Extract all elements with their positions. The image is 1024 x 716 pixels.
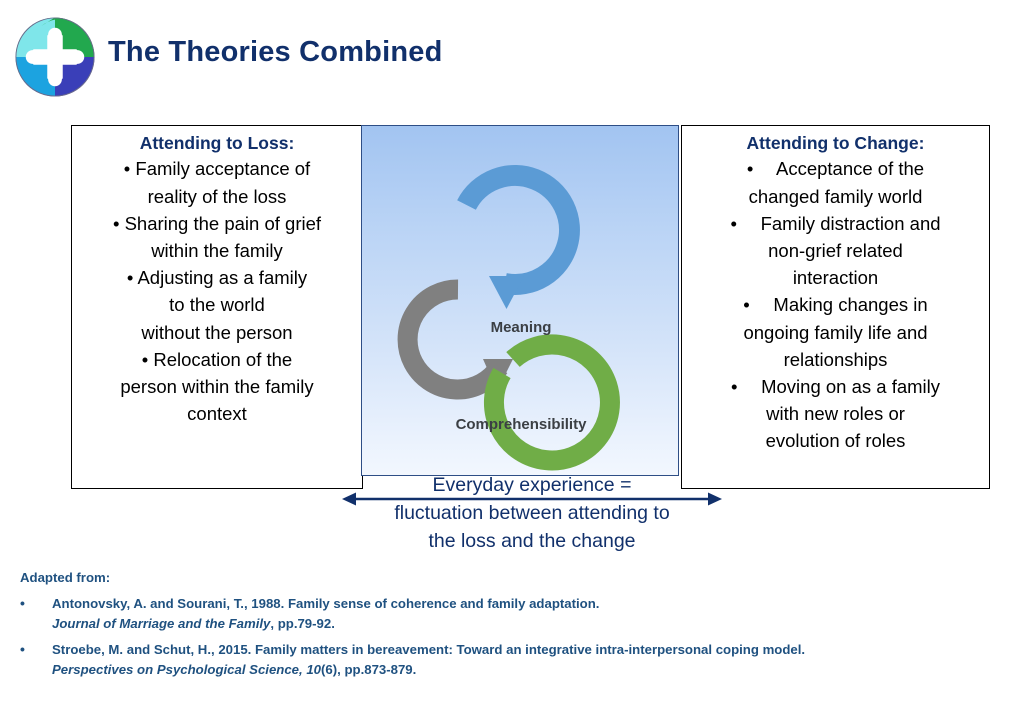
caption-line-3: the loss and the change bbox=[322, 528, 742, 556]
list-item: relationships bbox=[688, 346, 983, 373]
list-item: within the family bbox=[78, 237, 356, 264]
attending-to-change-heading: Attending to Change: bbox=[688, 132, 983, 154]
reference-pages: , pp.79-92. bbox=[270, 616, 335, 631]
list-item: context bbox=[78, 400, 356, 427]
reference-item: • Antonovsky, A. and Sourani, T., 1988. … bbox=[20, 594, 1010, 634]
list-item: • Sharing the pain of grief bbox=[78, 210, 356, 237]
reference-journal: Journal of Marriage and the Family bbox=[52, 616, 270, 631]
list-item: • Family distraction and bbox=[688, 210, 983, 237]
list-item: changed family world bbox=[688, 183, 983, 210]
caption-line-1: Everyday experience = bbox=[322, 472, 742, 500]
list-item: interaction bbox=[688, 264, 983, 291]
list-item: evolution of roles bbox=[688, 427, 983, 454]
cycle-label-meaning: Meaning bbox=[362, 319, 679, 336]
references-section: Adapted from: • Antonovsky, A. and Soura… bbox=[20, 568, 1010, 680]
slide-header: The Theories Combined bbox=[0, 0, 1024, 115]
caption-line-2: fluctuation between attending to bbox=[322, 500, 742, 528]
list-item: • Relocation of the bbox=[78, 346, 356, 373]
page-title: The Theories Combined bbox=[108, 36, 443, 69]
bullet-icon: • bbox=[20, 593, 25, 614]
list-item: • Acceptance of the bbox=[688, 155, 983, 182]
list-item: reality of the loss bbox=[78, 183, 356, 210]
reference-pages: (6), pp.873-879. bbox=[321, 662, 416, 677]
globe-puzzle-logo-icon bbox=[12, 14, 98, 100]
reference-line-2: Perspectives on Psychological Science, 1… bbox=[52, 660, 1010, 680]
list-item: to the world bbox=[78, 291, 356, 318]
attending-to-loss-box: Attending to Loss: • Family acceptance o… bbox=[71, 125, 363, 489]
reference-text: Antonovsky, A. and Sourani, T., 1988. Fa… bbox=[52, 596, 599, 611]
meaning-arc-icon bbox=[446, 175, 569, 309]
list-item: • Family acceptance of bbox=[78, 155, 356, 182]
reference-line-2: Journal of Marriage and the Family, pp.7… bbox=[52, 614, 1010, 634]
bullet-icon: • bbox=[20, 639, 25, 660]
attending-to-change-box: Attending to Change: • Acceptance of the… bbox=[681, 125, 990, 489]
reference-journal: Perspectives on Psychological Science, 1… bbox=[52, 662, 321, 677]
list-item: • Adjusting as a family bbox=[78, 264, 356, 291]
cycle-label-comprehensibility: Comprehensibility bbox=[362, 416, 679, 433]
attending-to-loss-heading: Attending to Loss: bbox=[78, 132, 356, 154]
sense-of-coherence-cycle-panel: Meaning Comprehensibility Manageability bbox=[361, 125, 679, 476]
list-item: • Making changes in bbox=[688, 291, 983, 318]
reference-item: • Stroebe, M. and Schut, H., 2015. Famil… bbox=[20, 640, 1010, 680]
list-item: person within the family bbox=[78, 373, 356, 400]
list-item: with new roles or bbox=[688, 400, 983, 427]
references-heading: Adapted from: bbox=[20, 568, 1010, 588]
everyday-experience-caption: Everyday experience = fluctuation betwee… bbox=[322, 472, 742, 556]
list-item: without the person bbox=[78, 319, 356, 346]
reference-text: Stroebe, M. and Schut, H., 2015. Family … bbox=[52, 642, 805, 657]
logo-svg bbox=[12, 14, 98, 100]
list-item: ongoing family life and bbox=[688, 319, 983, 346]
cycle-label-comprehensibility-text: Comprehensibility bbox=[456, 416, 587, 433]
list-item: • Moving on as a family bbox=[688, 373, 983, 400]
list-item: non-grief related bbox=[688, 237, 983, 264]
cycle-label-meaning-text: Meaning bbox=[491, 319, 552, 336]
